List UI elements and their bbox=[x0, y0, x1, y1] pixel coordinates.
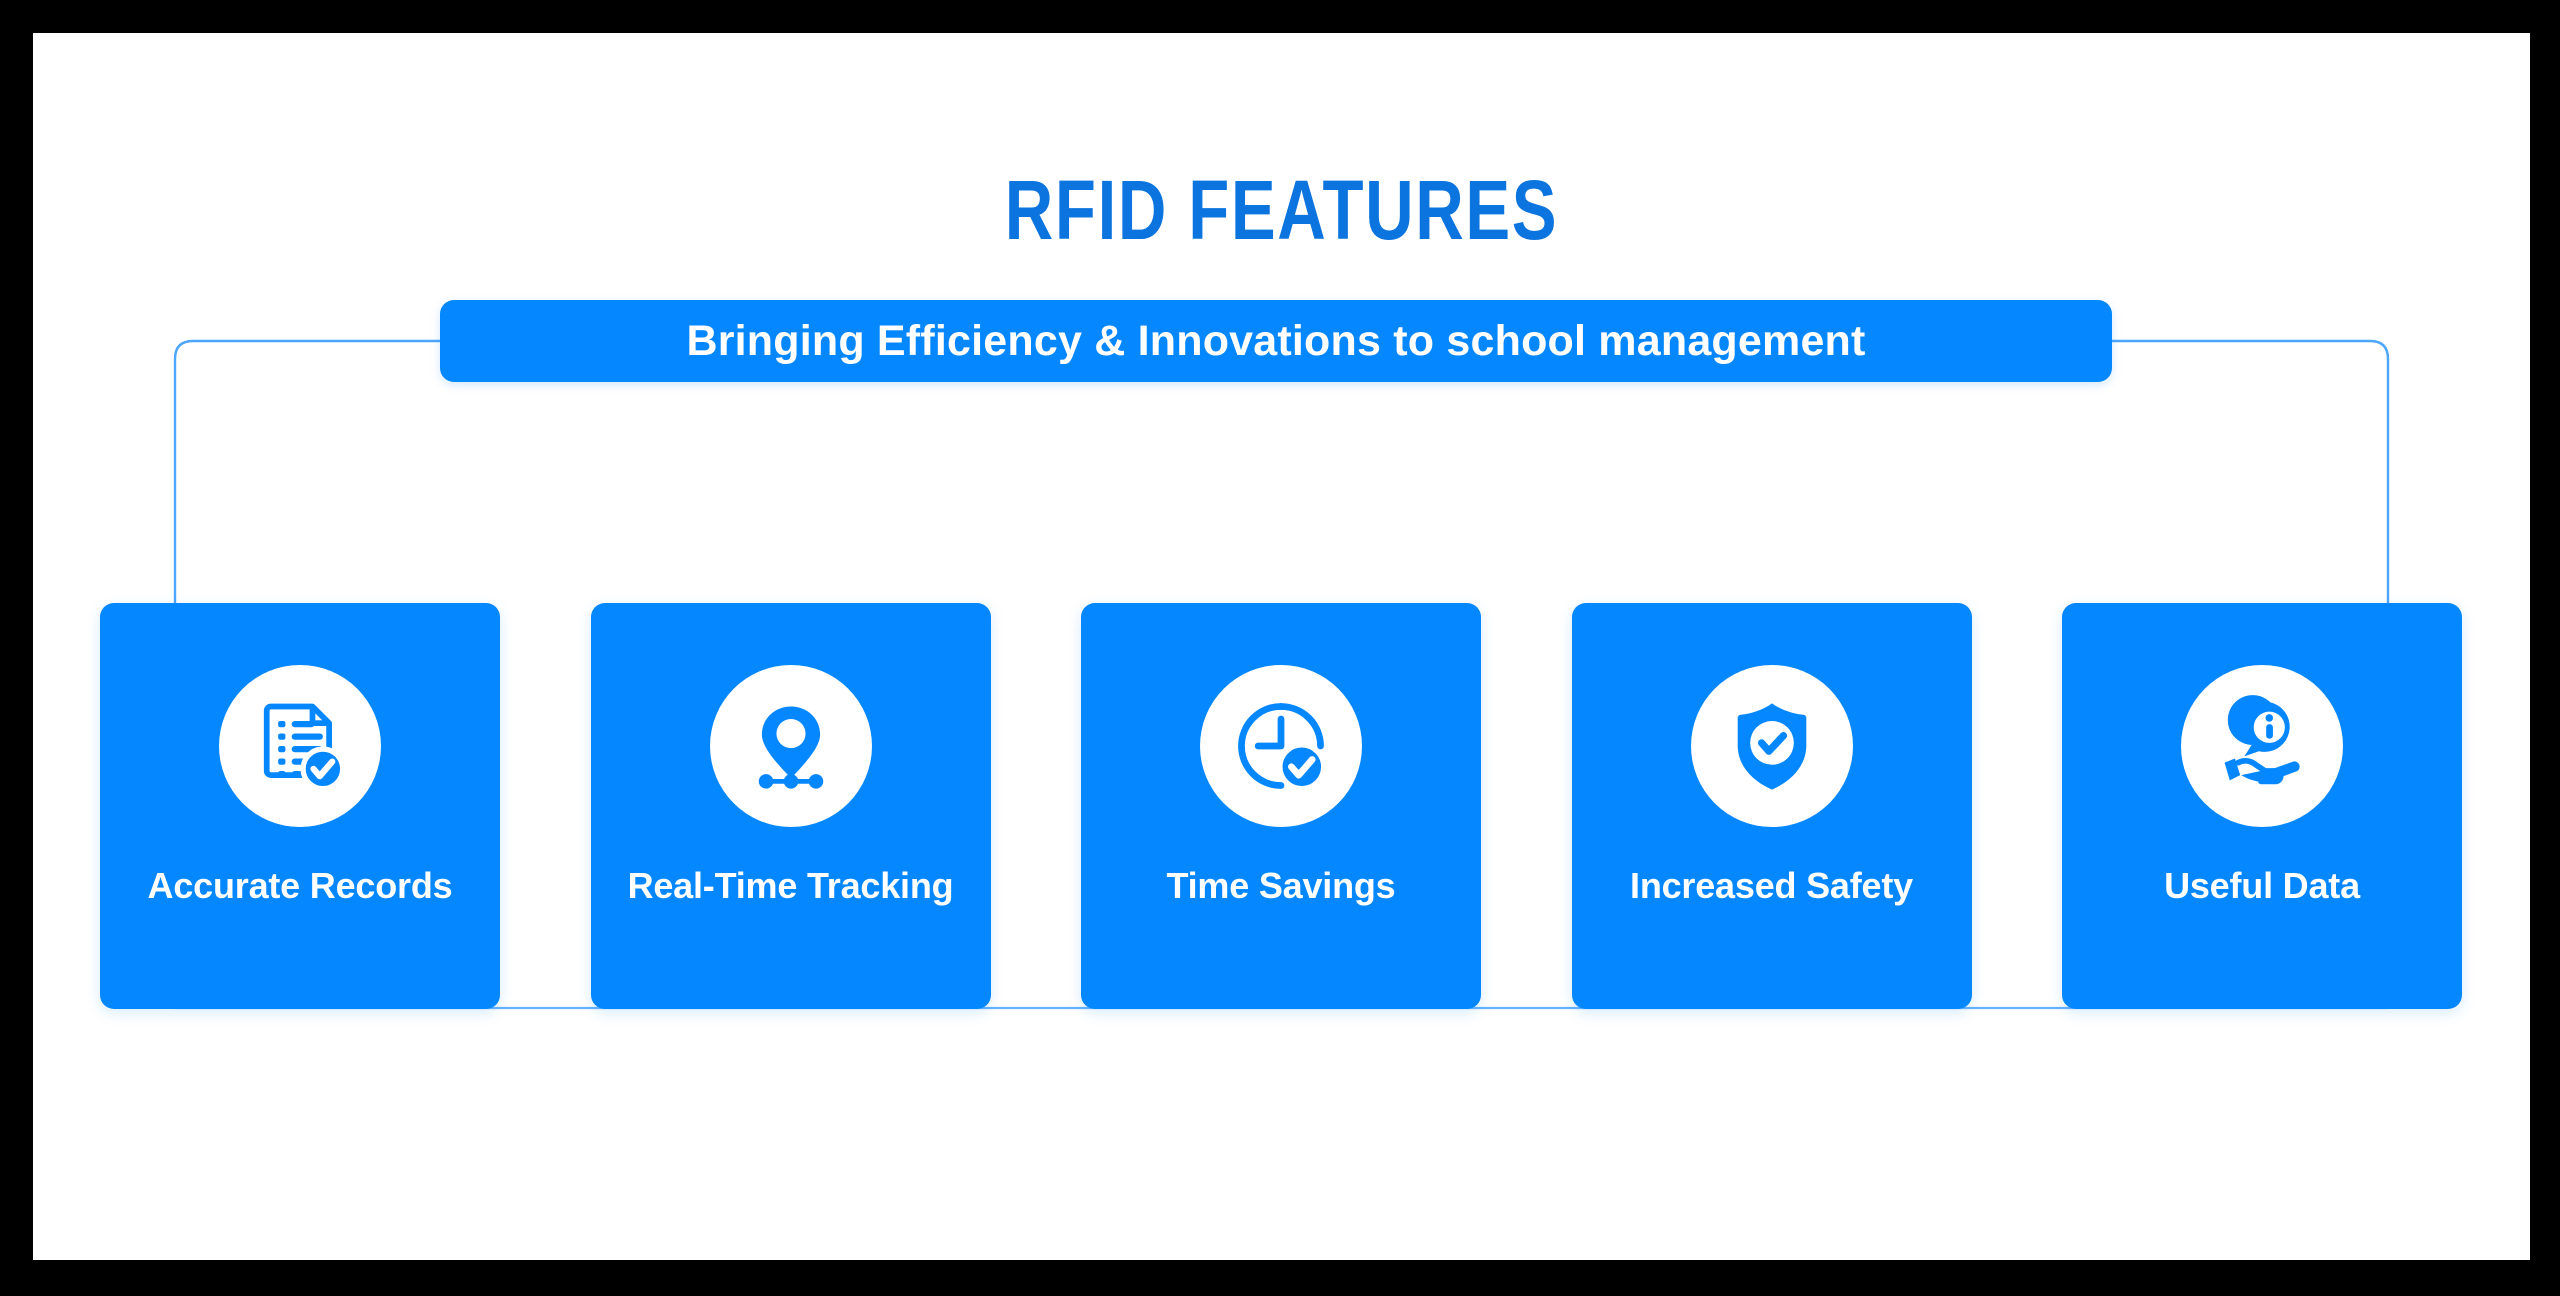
feature-card-label: Increased Safety bbox=[1630, 865, 1913, 907]
icon-badge bbox=[710, 665, 872, 827]
feature-card-time-savings[interactable]: Time Savings bbox=[1081, 603, 1481, 1009]
map-pin-track-icon bbox=[739, 694, 843, 798]
shield-check-icon bbox=[1720, 694, 1824, 798]
feature-card-real-time-tracking[interactable]: Real-Time Tracking bbox=[591, 603, 991, 1009]
feature-card-label: Time Savings bbox=[1166, 865, 1395, 907]
feature-card-accurate-records[interactable]: Accurate Records bbox=[100, 603, 500, 1009]
hand-info-icon bbox=[2210, 694, 2314, 798]
page-title: RFID FEATURES bbox=[283, 168, 2281, 252]
feature-card-row: Accurate Records Real-Time Tracking bbox=[100, 603, 2462, 1009]
outer-frame: RFID FEATURES Bringing Efficiency & Inno… bbox=[0, 0, 2560, 1296]
feature-card-label: Real-Time Tracking bbox=[628, 865, 954, 907]
feature-card-label: Useful Data bbox=[2164, 865, 2360, 907]
icon-badge bbox=[219, 665, 381, 827]
feature-card-increased-safety[interactable]: Increased Safety bbox=[1572, 603, 1972, 1009]
feature-card-useful-data[interactable]: Useful Data bbox=[2062, 603, 2462, 1009]
icon-badge bbox=[1691, 665, 1853, 827]
feature-card-label: Accurate Records bbox=[148, 865, 453, 907]
subtitle-banner: Bringing Efficiency & Innovations to sch… bbox=[440, 300, 2112, 382]
icon-badge bbox=[2181, 665, 2343, 827]
subtitle-text: Bringing Efficiency & Innovations to sch… bbox=[686, 317, 1865, 366]
clock-check-icon bbox=[1229, 694, 1333, 798]
icon-badge bbox=[1200, 665, 1362, 827]
document-checklist-check-icon bbox=[248, 694, 352, 798]
infographic-canvas: RFID FEATURES Bringing Efficiency & Inno… bbox=[33, 33, 2530, 1260]
